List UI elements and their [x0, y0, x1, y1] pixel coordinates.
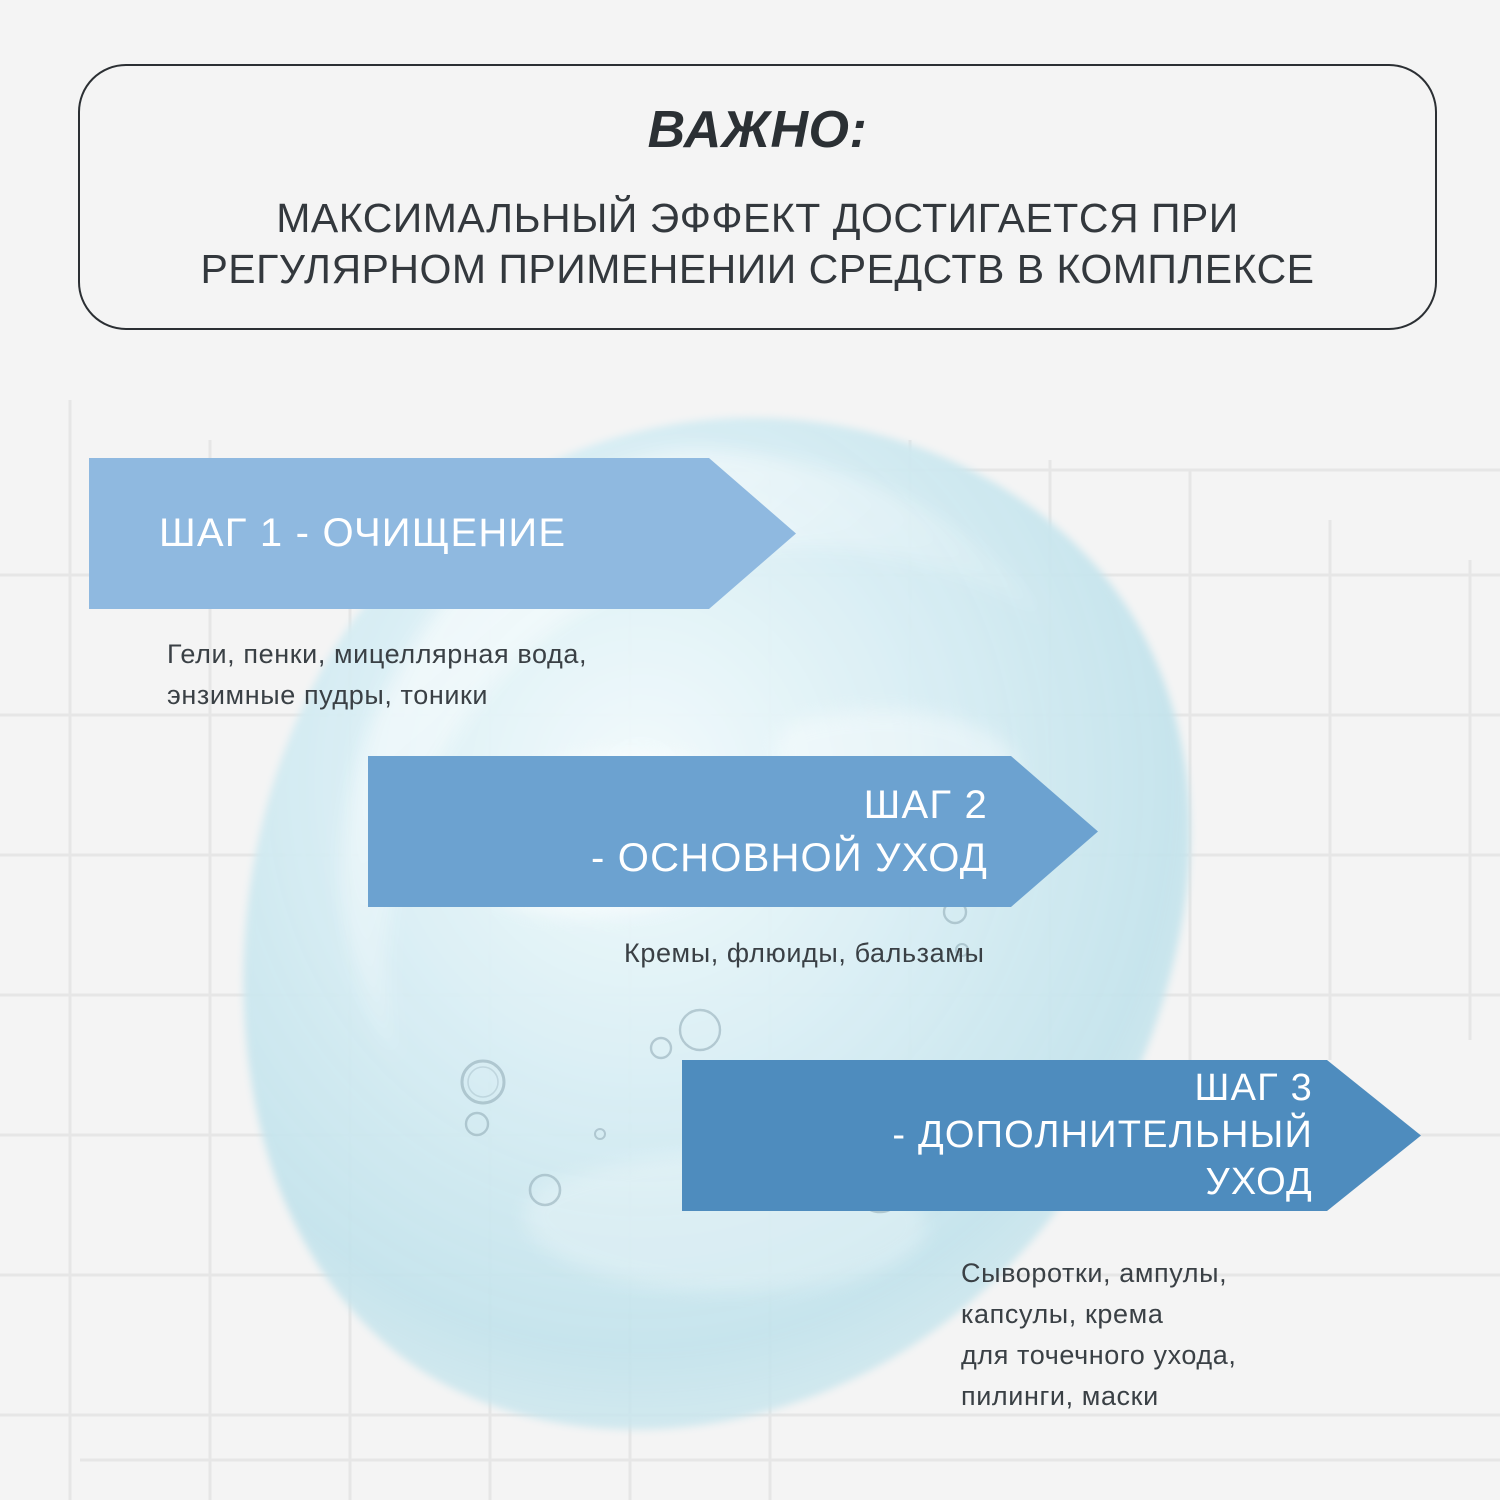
step-3-caption-line-4: пилинги, маски — [961, 1376, 1236, 1417]
step-2-label-line-1: ШАГ 2 — [368, 779, 988, 832]
step-2-arrow[interactable]: ШАГ 2 - ОСНОВНОЙ УХОД — [368, 756, 1098, 907]
step-3-label-line-3: УХОД — [682, 1159, 1313, 1206]
step-2-label-line-2: - ОСНОВНОЙ УХОД — [368, 832, 988, 885]
step-3-caption-line-2: капсулы, крема — [961, 1294, 1236, 1335]
step-1-label-line-1: ШАГ 1 - ОЧИЩЕНИЕ — [159, 507, 796, 560]
step-3-label-line-2: - ДОПОЛНИТЕЛЬНЫЙ — [682, 1112, 1313, 1159]
step-1-caption-line-2: энзимные пудры, тоники — [167, 675, 587, 716]
important-callout-box: ВАЖНО: МАКСИМАЛЬНЫЙ ЭФФЕКТ ДОСТИГАЕТСЯ П… — [78, 64, 1437, 330]
step-3-caption: Сыворотки, ампулы, капсулы, крема для то… — [961, 1253, 1236, 1417]
callout-subtitle-line-2: РЕГУЛЯРНОМ ПРИМЕНЕНИИ СРЕДСТВ В КОМПЛЕКС… — [113, 244, 1403, 295]
callout-subtitle-line-1: МАКСИМАЛЬНЫЙ ЭФФЕКТ ДОСТИГАЕТСЯ ПРИ — [113, 193, 1403, 244]
step-2-label: ШАГ 2 - ОСНОВНОЙ УХОД — [368, 779, 1098, 885]
callout-subtitle: МАКСИМАЛЬНЫЙ ЭФФЕКТ ДОСТИГАЕТСЯ ПРИ РЕГУ… — [113, 193, 1403, 296]
step-1-label: ШАГ 1 - ОЧИЩЕНИЕ — [89, 507, 796, 560]
step-3-arrow[interactable]: ШАГ 3 - ДОПОЛНИТЕЛЬНЫЙ УХОД — [682, 1060, 1421, 1211]
step-3-label: ШАГ 3 - ДОПОЛНИТЕЛЬНЫЙ УХОД — [682, 1065, 1421, 1206]
step-1-arrow[interactable]: ШАГ 1 - ОЧИЩЕНИЕ — [89, 458, 796, 609]
step-3-caption-line-3: для точечного ухода, — [961, 1335, 1236, 1376]
step-1-caption: Гели, пенки, мицеллярная вода, энзимные … — [167, 634, 587, 716]
step-2-caption: Кремы, флюиды, бальзамы — [624, 933, 984, 974]
infographic-canvas: ВАЖНО: МАКСИМАЛЬНЫЙ ЭФФЕКТ ДОСТИГАЕТСЯ П… — [0, 0, 1500, 1500]
callout-title: ВАЖНО: — [648, 102, 868, 159]
step-3-label-line-1: ШАГ 3 — [682, 1065, 1313, 1112]
step-2-caption-line-1: Кремы, флюиды, бальзамы — [624, 933, 984, 974]
step-3-caption-line-1: Сыворотки, ампулы, — [961, 1253, 1236, 1294]
step-1-caption-line-1: Гели, пенки, мицеллярная вода, — [167, 634, 587, 675]
